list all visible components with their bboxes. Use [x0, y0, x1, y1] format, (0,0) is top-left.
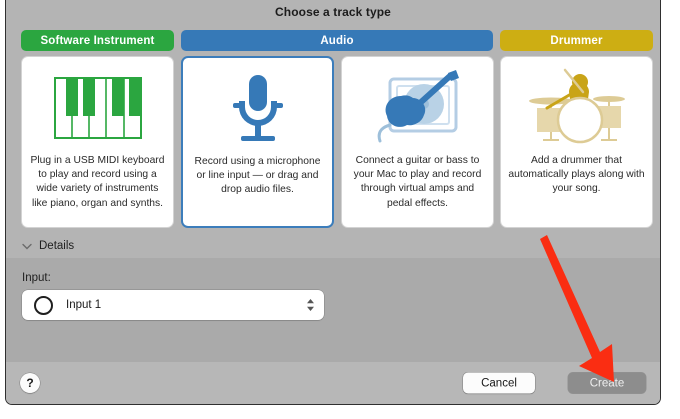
card-guitar-bass[interactable]: Connect a guitar or bass to your Mac to … [341, 56, 494, 228]
chevron-down-icon[interactable] [22, 241, 32, 251]
help-button-label: ? [26, 376, 33, 390]
card-drummer[interactable]: Add a drummer that automatically plays a… [500, 56, 653, 228]
create-button[interactable]: Create [568, 373, 646, 394]
tab-audio-label: Audio [320, 35, 353, 47]
card-software-instrument-description: Plug in a USB MIDI keyboard to play and … [29, 154, 166, 211]
input-select-value: Input 1 [66, 299, 101, 311]
tab-software-instrument[interactable]: Software Instrument [21, 30, 174, 51]
track-type-cards: Plug in a USB MIDI keyboard to play and … [6, 56, 660, 228]
choose-track-type-dialog: Choose a track type Software Instrument … [5, 0, 661, 405]
dialog-titlebar: Choose a track type [6, 0, 660, 24]
tab-software-instrument-label: Software Instrument [40, 35, 154, 47]
mono-input-circle-icon [34, 296, 53, 315]
details-disclosure-row[interactable]: Details [6, 234, 660, 258]
card-audio[interactable]: Record using a microphone or line input … [181, 56, 334, 228]
question-mark-circle-icon[interactable]: ? [20, 373, 40, 393]
details-panel: Input: Input 1 I want to hear my instrum… [6, 258, 660, 363]
drummer-icon [501, 63, 652, 153]
guitar-amp-icon [342, 63, 493, 153]
input-label: Input: [22, 272, 51, 284]
card-drummer-description: Add a drummer that automatically plays a… [508, 154, 645, 197]
screenshot-root: Choose a track type Software Instrument … [0, 0, 680, 419]
tab-drummer[interactable]: Drummer [500, 30, 653, 51]
cancel-button-label: Cancel [481, 377, 517, 389]
details-label: Details [39, 240, 74, 252]
input-select[interactable]: Input 1 [22, 290, 324, 320]
tab-audio[interactable]: Audio [181, 30, 493, 51]
card-audio-description: Record using a microphone or line input … [190, 155, 325, 198]
tab-drummer-label: Drummer [550, 35, 602, 47]
piano-keyboard-icon [22, 63, 173, 153]
track-type-tabs: Software Instrument Audio Drummer [6, 30, 660, 51]
dialog-footer: ? Cancel Create [6, 362, 660, 404]
dialog-title: Choose a track type [275, 5, 391, 19]
cancel-button[interactable]: Cancel [463, 373, 535, 394]
card-software-instrument[interactable]: Plug in a USB MIDI keyboard to play and … [21, 56, 174, 228]
stepper-up-down-icon[interactable] [306, 297, 315, 313]
create-button-label: Create [590, 377, 625, 389]
card-guitar-bass-description: Connect a guitar or bass to your Mac to … [349, 154, 486, 211]
microphone-icon [183, 64, 332, 154]
